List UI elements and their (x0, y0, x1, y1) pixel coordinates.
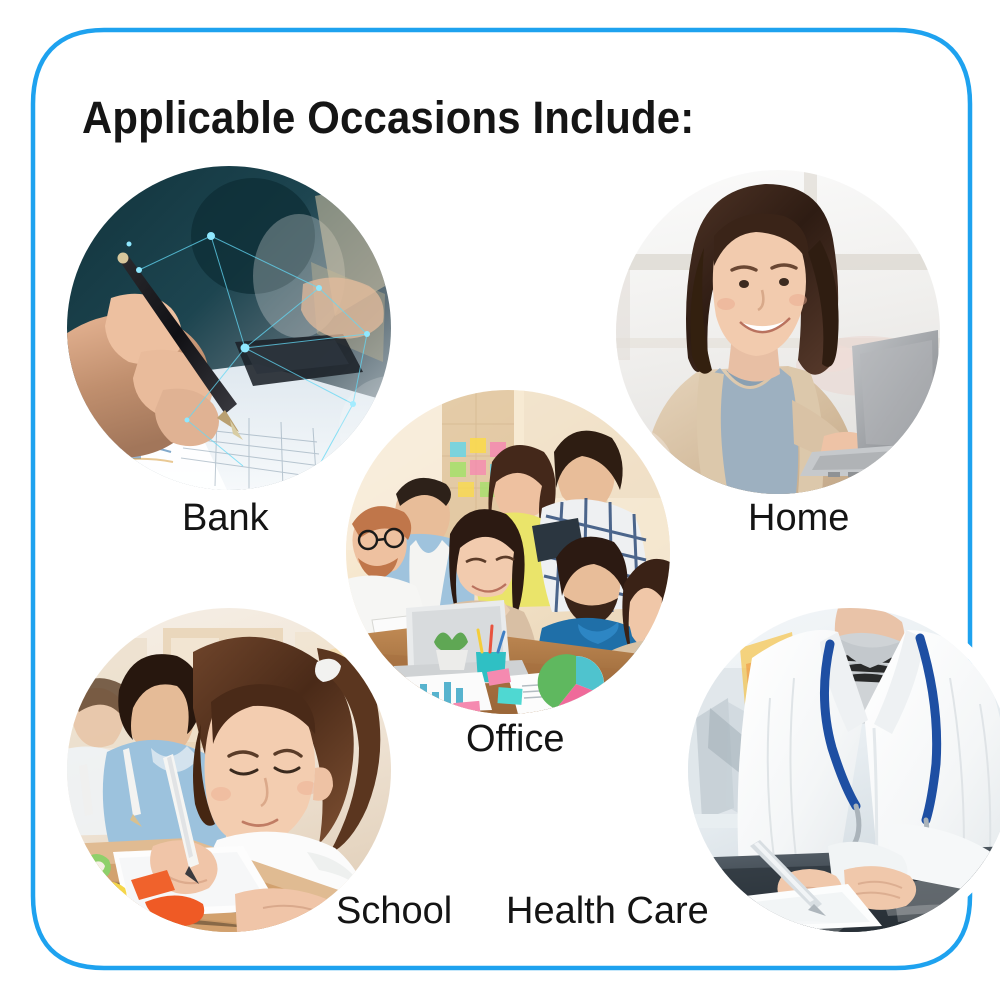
poster-canvas: Applicable Occasions Include: (0, 0, 1000, 1000)
occasion-label-health: Health Care (506, 890, 709, 933)
occasion-label-office: Office (466, 718, 565, 761)
occasion-image-health (688, 608, 1000, 932)
occasion-image-office (346, 390, 670, 714)
occasion-label-bank: Bank (182, 497, 269, 540)
occasion-image-home (616, 170, 940, 494)
page-title: Applicable Occasions Include: (82, 92, 694, 144)
occasion-image-school (67, 608, 391, 932)
occasion-image-bank (67, 166, 391, 490)
occasion-label-home: Home (748, 497, 849, 540)
occasion-label-school: School (336, 890, 452, 933)
